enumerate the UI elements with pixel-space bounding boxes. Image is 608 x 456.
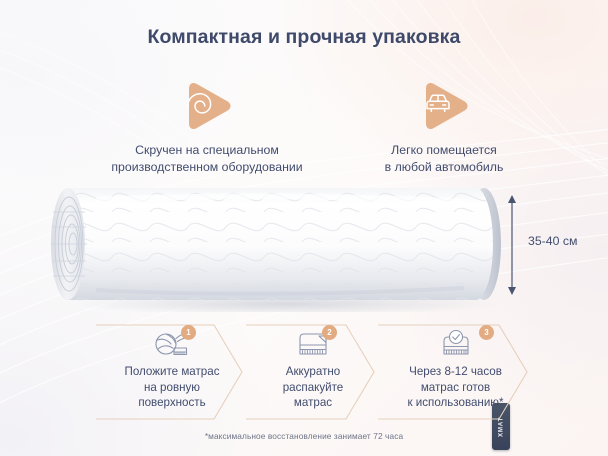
step-label: Положите матрас на ровную поверхность: [96, 364, 248, 411]
step-number-badge: 2: [322, 325, 337, 340]
car-icon: [416, 80, 472, 132]
mattress-check-icon: [436, 328, 476, 360]
footnote: *максимальное восстановление занимает 72…: [0, 431, 608, 441]
step-number-badge: 3: [479, 325, 494, 340]
spiral-roll-icon: [179, 80, 235, 132]
dimension-label: 35-40 см: [528, 234, 577, 248]
step-card-3: 3 Через 8-12 часов матрас готов к исполь…: [378, 322, 533, 422]
dimension-indicator: 35-40 см: [500, 190, 608, 300]
step-label: Аккуратно распакуйте матрас: [246, 364, 380, 411]
rolled-mattress-image: XMAT: [36, 182, 506, 312]
step-card-2: 2 Аккуратно распакуйте матрас: [246, 322, 380, 422]
page-title: Компактная и прочная упаковка: [0, 26, 608, 49]
feature-label: Легко помещается в любой автомобиль: [330, 142, 558, 175]
feature-item-rolled: Скручен на специальном производственном …: [76, 80, 338, 175]
feature-label: Скручен на специальном производственном …: [76, 142, 338, 175]
step-label: Через 8-12 часов матрас готов к использо…: [378, 364, 533, 411]
feature-item-car: Легко помещается в любой автомобиль: [330, 80, 558, 175]
step-card-1: 1 Положите матрас на ровную поверхность: [96, 322, 248, 422]
steps-row: 1 Положите матрас на ровную поверхность: [96, 322, 516, 422]
promo-banner: Компактная и прочная упаковка Скручен на…: [0, 0, 608, 456]
step-number-badge: 1: [181, 325, 196, 340]
